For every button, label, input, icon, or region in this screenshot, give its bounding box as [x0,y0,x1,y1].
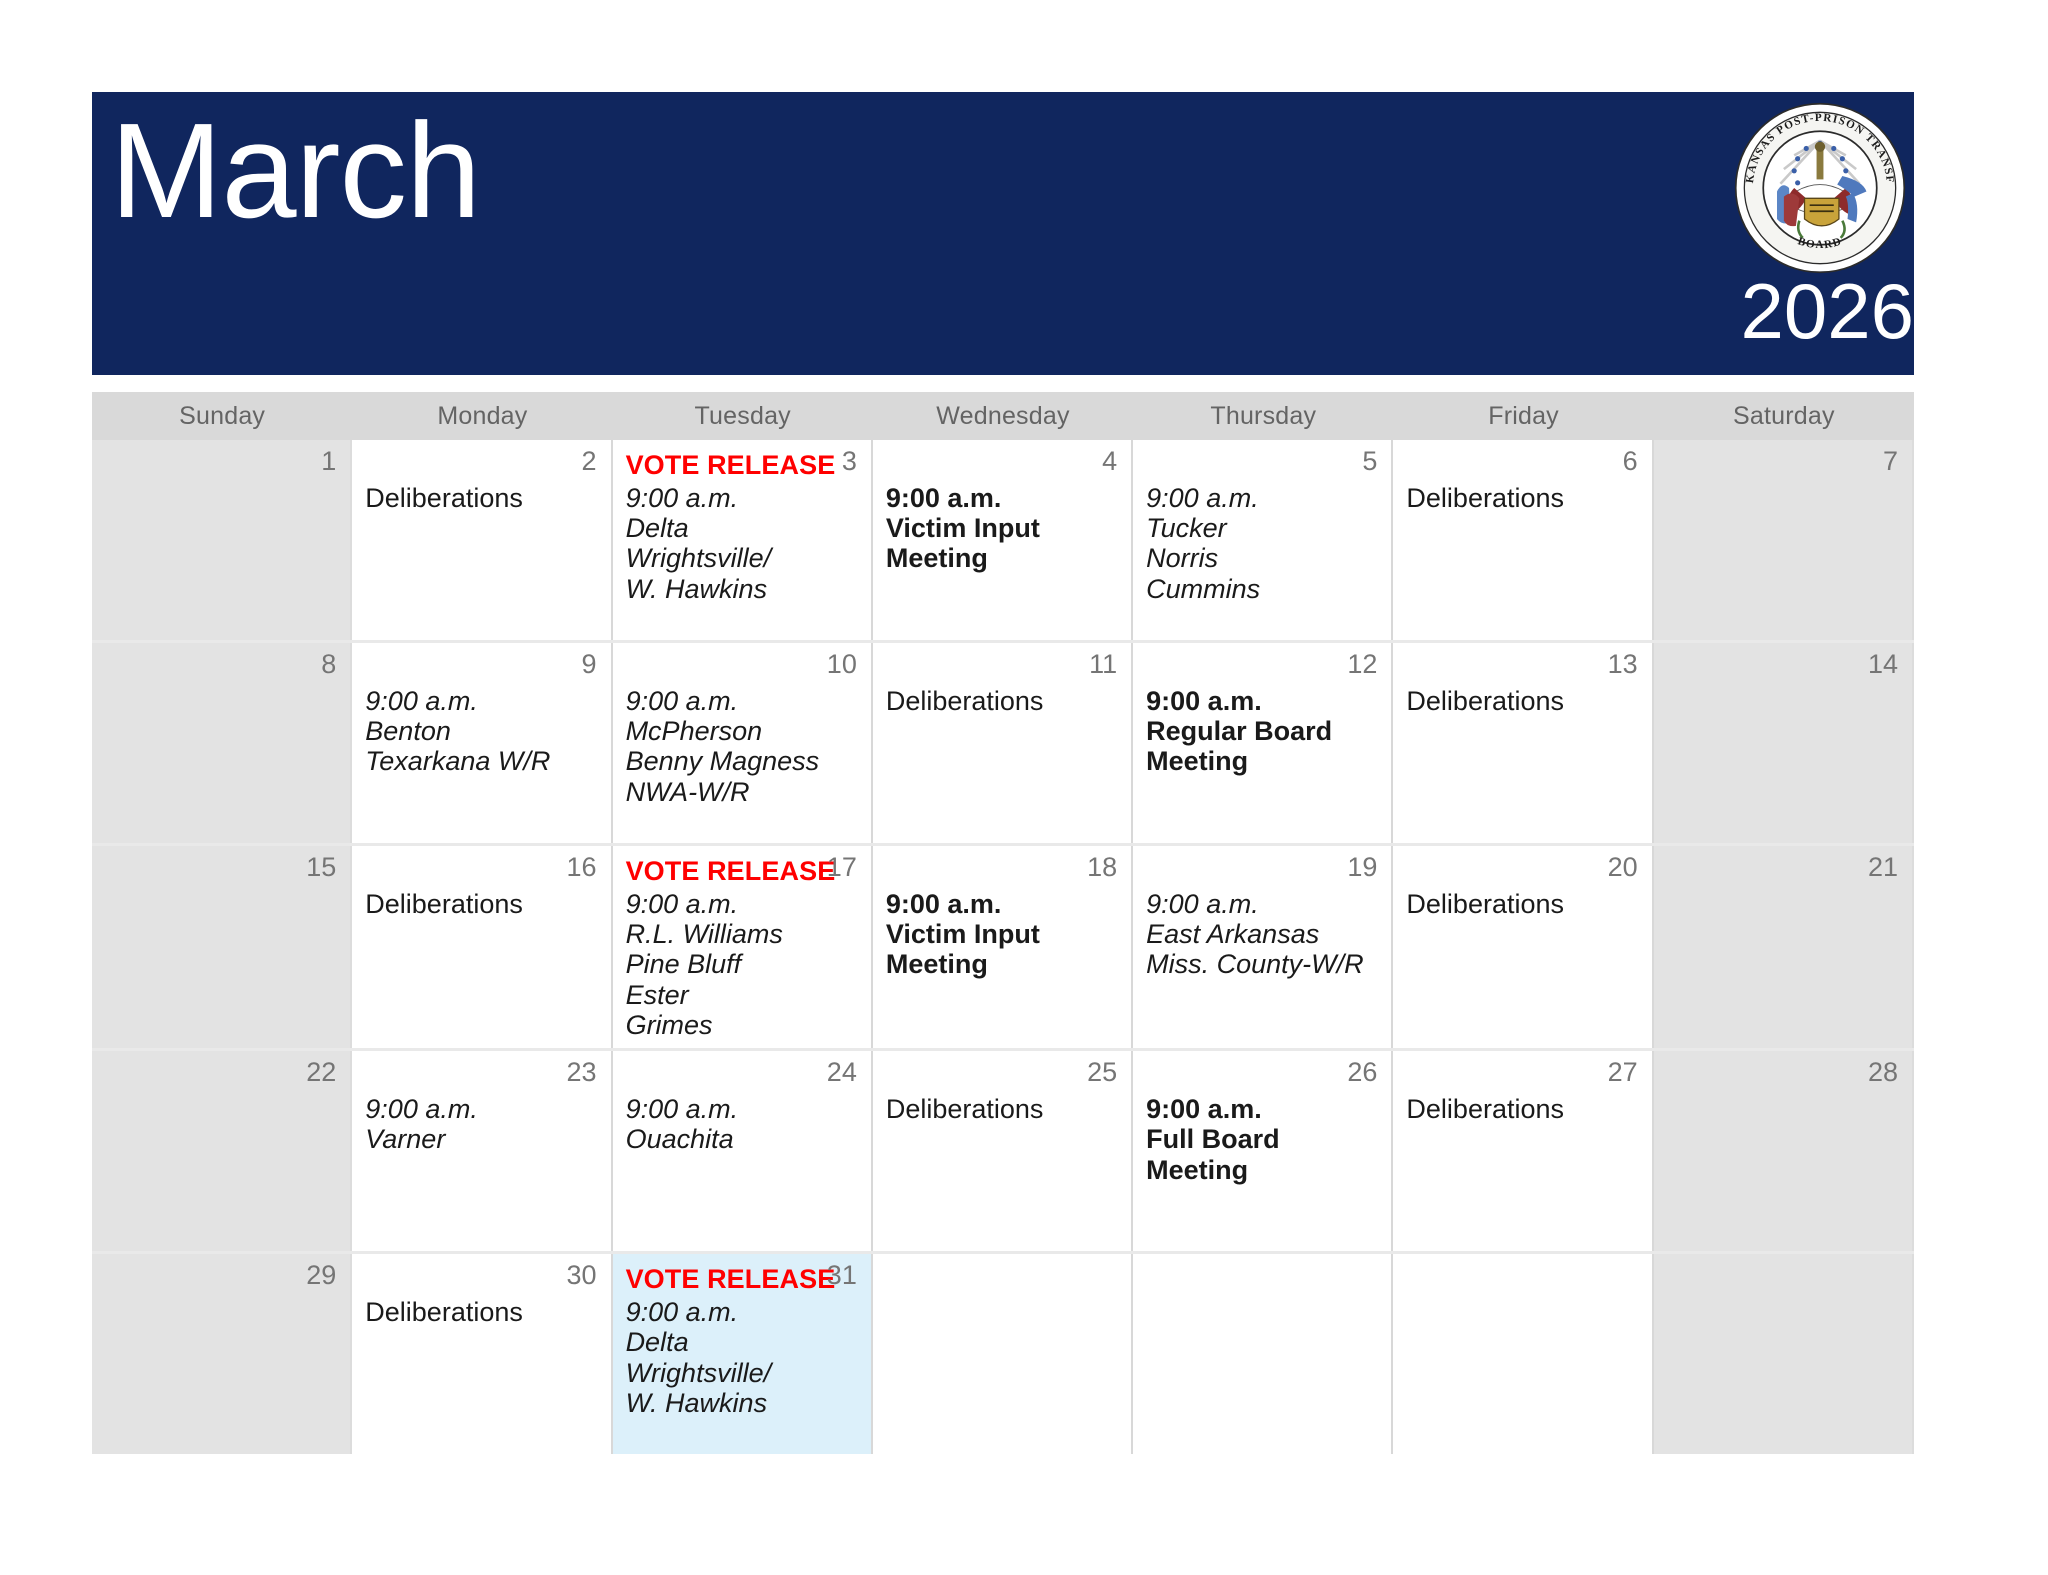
day-number: 5 [1362,448,1377,475]
cell-top-spacer [1406,450,1638,481]
calendar-day-cell-12[interactable]: 129:00 a.m.Regular BoardMeeting [1133,643,1393,843]
calendar-day-cell-21[interactable]: 21 [1654,846,1914,1048]
day-number: 21 [1868,854,1898,881]
day-number: 24 [827,1059,857,1086]
event-line: 9:00 a.m. [1146,483,1378,513]
calendar-day-cell-16[interactable]: 16Deliberations [352,846,612,1048]
calendar-day-cell-5[interactable]: 59:00 a.m.TuckerNorrisCummins [1133,440,1393,640]
calendar-week-row: 1516Deliberations17VOTE RELEASE9:00 a.m.… [92,846,1914,1051]
calendar-day-cell-28[interactable]: 28 [1654,1051,1914,1251]
event-line: Tucker [1146,513,1378,543]
weekday-header-row: Sunday Monday Tuesday Wednesday Thursday… [92,392,1914,440]
event-list: 9:00 a.m.DeltaWrightsville/W. Hawkins [626,483,858,604]
calendar-day-cell-15[interactable]: 15 [92,846,352,1048]
cell-top-spacer [365,653,597,684]
event-list: 9:00 a.m.Ouachita [626,1094,858,1154]
cell-top-spacer [365,450,597,481]
event-line: Meeting [1146,746,1378,776]
event-line: W. Hawkins [626,1388,858,1418]
event-line: Deliberations [1406,1094,1638,1124]
event-line: Texarkana W/R [365,746,597,776]
event-line: Wrightsville/ [626,1358,858,1388]
event-line: NWA-W/R [626,777,858,807]
day-number: 31 [827,1262,857,1289]
day-number: 22 [306,1059,336,1086]
day-number: 14 [1868,651,1898,678]
event-list: 9:00 a.m.TuckerNorrisCummins [1146,483,1378,604]
event-list: 9:00 a.m.Regular BoardMeeting [1146,686,1378,777]
event-list: Deliberations [1406,1094,1638,1124]
calendar-day-cell-11[interactable]: 11Deliberations [873,643,1133,843]
calendar-day-cell-empty[interactable] [873,1254,1133,1454]
calendar-page: March [0,0,2048,1575]
event-line: Meeting [886,543,1118,573]
event-list: 9:00 a.m.McPhersonBenny MagnessNWA-W/R [626,686,858,807]
event-line: R.L. Williams [626,919,858,949]
cell-top-spacer [626,1061,858,1092]
cell-top-spacer [1146,450,1378,481]
calendar-day-cell-empty[interactable] [1133,1254,1393,1454]
day-number: 16 [567,854,597,881]
calendar-day-cell-26[interactable]: 269:00 a.m.Full Board Meeting [1133,1051,1393,1251]
cell-top-spacer [365,1264,597,1295]
event-line: 9:00 a.m. [626,686,858,716]
event-line: 9:00 a.m. [886,889,1118,919]
event-line: Cummins [1146,574,1378,604]
day-number: 7 [1883,448,1898,475]
day-number: 6 [1623,448,1638,475]
event-line: McPherson [626,716,858,746]
day-number: 3 [842,448,857,475]
calendar-day-cell-18[interactable]: 189:00 a.m.Victim InputMeeting [873,846,1133,1048]
event-line: Delta [626,513,858,543]
event-line: 9:00 a.m. [886,483,1118,513]
vote-release-badge: VOTE RELEASE [626,1264,858,1295]
event-line: 9:00 a.m. [365,686,597,716]
cell-top-spacer [1406,856,1638,887]
event-line: Regular Board [1146,716,1378,746]
event-line: Meeting [886,949,1118,979]
cell-top-spacer [1406,1061,1638,1092]
calendar-day-cell-4[interactable]: 49:00 a.m.Victim InputMeeting [873,440,1133,640]
day-number: 15 [306,854,336,881]
cell-top-spacer [1406,653,1638,684]
day-number: 8 [321,651,336,678]
event-list: 9:00 a.m.Victim InputMeeting [886,889,1118,980]
event-line: 9:00 a.m. [1146,889,1378,919]
calendar-day-cell-1[interactable]: 1 [92,440,352,640]
event-line: 9:00 a.m. [626,1297,858,1327]
weekday-header-saturday: Saturday [1654,392,1914,440]
day-number: 26 [1347,1059,1377,1086]
calendar-day-cell-9[interactable]: 99:00 a.m.BentonTexarkana W/R [352,643,612,843]
event-line: 9:00 a.m. [365,1094,597,1124]
vote-release-badge: VOTE RELEASE [626,450,858,481]
cell-top-spacer [1146,856,1378,887]
day-number: 28 [1868,1059,1898,1086]
event-list: Deliberations [1406,686,1638,716]
event-line: 9:00 a.m. [626,1094,858,1124]
event-line: Full Board Meeting [1146,1124,1378,1184]
event-list: Deliberations [886,686,1118,716]
event-list: 9:00 a.m.BentonTexarkana W/R [365,686,597,777]
calendar-day-cell-22[interactable]: 22 [92,1051,352,1251]
event-list: Deliberations [365,1297,597,1327]
event-list: Deliberations [1406,483,1638,513]
vote-release-badge: VOTE RELEASE [626,856,858,887]
day-number: 2 [582,448,597,475]
event-line: Deliberations [1406,889,1638,919]
event-line: East Arkansas [1146,919,1378,949]
calendar-day-cell-3[interactable]: 3VOTE RELEASE9:00 a.m.DeltaWrightsville/… [613,440,873,640]
cell-top-spacer [886,653,1118,684]
weekday-header-friday: Friday [1393,392,1653,440]
event-line: Pine Bluff [626,949,858,979]
cell-top-spacer [365,856,597,887]
calendar-day-cell-14[interactable]: 14 [1654,643,1914,843]
event-list: 9:00 a.m.DeltaWrightsville/W. Hawkins [626,1297,858,1418]
calendar-week-row: 22239:00 a.m.Varner249:00 a.m.Ouachita25… [92,1051,1914,1254]
weekday-header-sunday: Sunday [92,392,352,440]
day-number: 12 [1347,651,1377,678]
event-line: Benton [365,716,597,746]
calendar-day-cell-13[interactable]: 13Deliberations [1393,643,1653,843]
event-list: Deliberations [365,483,597,513]
calendar-day-cell-19[interactable]: 199:00 a.m.East ArkansasMiss. County-W/R [1133,846,1393,1048]
event-list: Deliberations [1406,889,1638,919]
weekday-header-thursday: Thursday [1133,392,1393,440]
event-line: Ester [626,980,858,1010]
event-line: Wrightsville/ [626,543,858,573]
day-number: 17 [827,854,857,881]
event-line: Victim Input [886,919,1118,949]
day-number: 4 [1102,448,1117,475]
cell-top-spacer [1146,1061,1378,1092]
event-line: Deliberations [365,483,597,513]
day-number: 13 [1608,651,1638,678]
cell-top-spacer [886,1061,1118,1092]
day-number: 19 [1347,854,1377,881]
event-line: Miss. County-W/R [1146,949,1378,979]
calendar-weeks: 12Deliberations3VOTE RELEASE9:00 a.m.Del… [92,440,1914,1454]
event-line: W. Hawkins [626,574,858,604]
calendar-day-cell-7[interactable]: 7 [1654,440,1914,640]
calendar-day-cell-29[interactable]: 29 [92,1254,352,1454]
calendar-week-row: 2930Deliberations31VOTE RELEASE9:00 a.m.… [92,1254,1914,1454]
cell-top-spacer [1146,653,1378,684]
calendar-day-cell-31[interactable]: 31VOTE RELEASE9:00 a.m.DeltaWrightsville… [613,1254,873,1454]
event-list: Deliberations [886,1094,1118,1124]
cell-top-spacer [626,653,858,684]
calendar-day-cell-30[interactable]: 30Deliberations [352,1254,612,1454]
event-line: 9:00 a.m. [1146,1094,1378,1124]
event-line: Benny Magness [626,746,858,776]
calendar-day-cell-24[interactable]: 249:00 a.m.Ouachita [613,1051,873,1251]
day-number: 11 [1089,651,1117,678]
event-line: Varner [365,1124,597,1154]
calendar-day-cell-17[interactable]: 17VOTE RELEASE9:00 a.m.R.L. WilliamsPine… [613,846,873,1048]
calendar-year: 2026 [1728,272,1914,350]
event-list: 9:00 a.m.Varner [365,1094,597,1154]
weekday-header-monday: Monday [352,392,612,440]
cell-top-spacer [365,1061,597,1092]
calendar-day-cell-2[interactable]: 2Deliberations [352,440,612,640]
event-line: 9:00 a.m. [1146,686,1378,716]
page-title: March [110,100,480,242]
calendar-week-row: 899:00 a.m.BentonTexarkana W/R109:00 a.m… [92,643,1914,846]
cell-top-spacer [886,450,1118,481]
day-number: 23 [567,1059,597,1086]
calendar-day-cell-8[interactable]: 8 [92,643,352,843]
calendar-day-cell-10[interactable]: 109:00 a.m.McPhersonBenny MagnessNWA-W/R [613,643,873,843]
calendar-day-cell-27[interactable]: 27Deliberations [1393,1051,1653,1251]
event-line: Victim Input [886,513,1118,543]
calendar-day-cell-23[interactable]: 239:00 a.m.Varner [352,1051,612,1251]
day-number: 20 [1608,854,1638,881]
calendar-header-banner: March [92,92,1722,375]
calendar-week-row: 12Deliberations3VOTE RELEASE9:00 a.m.Del… [92,440,1914,643]
event-line: Deliberations [365,889,597,919]
weekday-header-wednesday: Wednesday [873,392,1133,440]
day-number: 27 [1608,1059,1638,1086]
day-number: 18 [1087,854,1117,881]
event-line: Deliberations [365,1297,597,1327]
calendar-day-cell-empty[interactable] [1393,1254,1653,1454]
arkansas-post-prison-transfer-board-seal: ARKANSAS POST-PRISON TRANSFER BOARD [1734,102,1906,274]
event-line: Deliberations [886,1094,1118,1124]
event-list: 9:00 a.m.Victim InputMeeting [886,483,1118,574]
event-line: Delta [626,1327,858,1357]
event-line: Deliberations [886,686,1118,716]
calendar-day-cell-25[interactable]: 25Deliberations [873,1051,1133,1251]
day-number: 29 [306,1262,336,1289]
day-number: 1 [321,448,336,475]
event-list: 9:00 a.m.R.L. WilliamsPine BluffEsterGri… [626,889,858,1040]
event-list: 9:00 a.m.Full Board Meeting [1146,1094,1378,1185]
calendar-day-cell-6[interactable]: 6Deliberations [1393,440,1653,640]
day-number: 9 [582,651,597,678]
event-line: 9:00 a.m. [626,483,858,513]
day-number: 10 [827,651,857,678]
calendar-grid: Sunday Monday Tuesday Wednesday Thursday… [92,392,1914,1454]
event-line: Norris [1146,543,1378,573]
day-number: 25 [1087,1059,1117,1086]
day-number: 30 [567,1262,597,1289]
event-list: 9:00 a.m.East ArkansasMiss. County-W/R [1146,889,1378,980]
event-line: Ouachita [626,1124,858,1154]
event-line: 9:00 a.m. [626,889,858,919]
event-list: Deliberations [365,889,597,919]
weekday-header-tuesday: Tuesday [613,392,873,440]
event-line: Deliberations [1406,483,1638,513]
event-line: Grimes [626,1010,858,1040]
cell-top-spacer [886,856,1118,887]
calendar-day-cell-20[interactable]: 20Deliberations [1393,846,1653,1048]
event-line: Deliberations [1406,686,1638,716]
calendar-day-cell-empty[interactable] [1654,1254,1914,1454]
